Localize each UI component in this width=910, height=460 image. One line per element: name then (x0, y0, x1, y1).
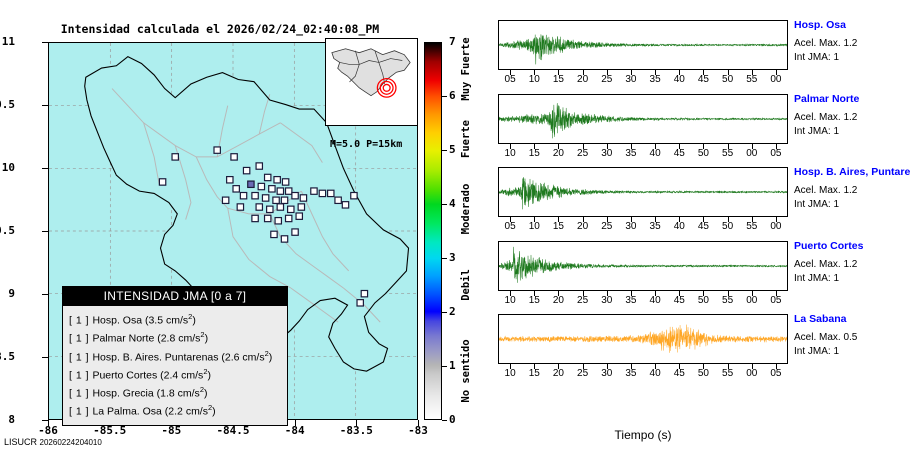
waveform-x-tick-label: 05 (763, 295, 789, 306)
waveform-row: 051015202530354045505500Hosp. B. Aires, … (470, 167, 910, 239)
waveform-x-tick-label: 00 (739, 368, 765, 379)
waveform-trace (499, 315, 787, 363)
waveform-x-tick-label: 10 (497, 148, 523, 159)
waveform-x-tick-label: 00 (763, 221, 789, 232)
waveform-x-tick-label: 25 (570, 148, 596, 159)
legend-row-close: ) (204, 388, 208, 400)
waveform-x-tick-label: 15 (521, 368, 547, 379)
epicenter-icon (377, 79, 396, 98)
map-y-tick-label: 8 (0, 413, 15, 426)
waveform-x-tick-label: 15 (545, 221, 571, 232)
waveform-x-tick-label: 35 (618, 295, 644, 306)
colorbar-tick (442, 204, 447, 205)
waveform-meta: La SabanaAcel. Max. 0.5Int JMA: 1 (794, 313, 910, 359)
map-y-tick (42, 294, 48, 295)
map-y-tick-label: 10.5 (0, 98, 15, 111)
colorbar-tick (442, 366, 447, 367)
legend-row-close: ) (205, 333, 209, 345)
map-x-tick (295, 420, 296, 426)
waveform-x-tick-label: 50 (690, 368, 716, 379)
map-y-tick-label: 10 (0, 161, 15, 174)
legend-row-count: [ 1 ] (69, 369, 92, 381)
waveform-x-tick-label: 45 (690, 221, 716, 232)
waveform-trace (499, 168, 787, 216)
colorbar-tick-label: 4 (449, 197, 456, 210)
legend-row-station: Puerto Cortes (2.4 cm/s (92, 369, 203, 381)
legend-row-count: [ 1 ] (69, 406, 92, 418)
legend-row-station: La Palma. Osa (2.2 cm/s (92, 406, 208, 418)
colorbar-tick-label: 1 (449, 359, 456, 372)
legend-row-close: ) (212, 406, 216, 418)
legend-row-station: Hosp. Osa (3.5 cm/s (92, 315, 188, 327)
waveform-x-tick-label: 35 (618, 368, 644, 379)
map-y-tick (42, 168, 48, 169)
waveform-x-tick-label: 25 (594, 74, 620, 85)
waveform-trace (499, 21, 787, 69)
legend-row: [ 1 ] Puerto Cortes (2.4 cm/s2) (69, 365, 287, 383)
waveform-x-tick-label: 20 (570, 221, 596, 232)
waveform-x-tick-labels: 101520253035404550550005 (498, 295, 788, 309)
waveform-row: 101520253035404550550005Puerto CortesAce… (470, 241, 910, 313)
footer: LISUCR 20260224204010 (4, 437, 102, 447)
waveform-meta: Hosp. B. Aires, PuntareAcel. Max. 1.2Int… (794, 166, 910, 212)
waveform-x-tick-label: 20 (545, 295, 571, 306)
inset-landmass (332, 49, 410, 96)
colorbar-gradient (424, 42, 442, 420)
waveform-x-tick-label: 00 (739, 148, 765, 159)
waveform-x-axis-title: Tiempo (s) (498, 428, 788, 442)
waveform-x-tick-label: 40 (666, 221, 692, 232)
waveform-x-tick-label: 15 (545, 74, 571, 85)
waveform-accel-max: Acel. Max. 1.2 (794, 37, 910, 51)
waveform-x-tick-label: 50 (715, 221, 741, 232)
waveform-x-tick-label: 55 (715, 368, 741, 379)
waveform-x-tick-labels: 051015202530354045505500 (498, 221, 788, 235)
waveform-trace (499, 242, 787, 290)
waveform-x-tick-label: 15 (521, 295, 547, 306)
legend-row-count: [ 1 ] (69, 315, 92, 327)
legend-row-close: ) (192, 315, 196, 327)
waveform-x-tick-label: 35 (642, 221, 668, 232)
waveform-plot[interactable] (498, 314, 788, 364)
legend-row: [ 1 ] La Palma. Osa (2.2 cm/s2) (69, 401, 287, 419)
waveform-x-tick-label: 15 (521, 148, 547, 159)
waveform-x-tick-label: 30 (618, 221, 644, 232)
waveform-x-tick-label: 30 (594, 148, 620, 159)
footer-agency: LISUCR (4, 437, 37, 447)
waveform-row: 051015202530354045505500Hosp. OsaAcel. M… (470, 20, 910, 92)
waveform-x-tick-label: 25 (570, 368, 596, 379)
map-y-tick (42, 357, 48, 358)
colorbar-tick-label: 7 (449, 35, 456, 48)
colorbar-tick (442, 420, 447, 421)
waveform-meta: Puerto CortesAcel. Max. 1.2Int JMA: 1 (794, 240, 910, 286)
waveform-x-tick-label: 45 (666, 148, 692, 159)
waveform-x-tick-label: 50 (690, 148, 716, 159)
waveform-station-name[interactable]: Palmar Norte (794, 93, 910, 106)
waveform-jma-intensity: Int JMA: 1 (794, 345, 910, 359)
colorbar-tick-label: 6 (449, 89, 456, 102)
waveform-x-tick-label: 35 (618, 148, 644, 159)
intensity-colorbar: 76543210Muy FuerteFuerteModeradoDebilNo … (424, 42, 470, 420)
waveform-x-tick-label: 25 (570, 295, 596, 306)
map-y-tick-label: 9.5 (0, 224, 15, 237)
map-y-tick (42, 105, 48, 106)
waveform-x-tick-label: 00 (763, 74, 789, 85)
waveform-jma-intensity: Int JMA: 1 (794, 51, 910, 65)
waveform-x-tick-label: 55 (739, 74, 765, 85)
map-x-tick (418, 420, 419, 426)
waveform-x-tick-label: 05 (497, 74, 523, 85)
footer-id: 20260224204010 (40, 438, 102, 447)
waveform-x-tick-label: 30 (594, 295, 620, 306)
waveform-x-tick-label: 55 (715, 295, 741, 306)
waveform-x-tick-label: 40 (642, 148, 668, 159)
waveform-x-tick-labels: 101520253035404550550005 (498, 148, 788, 162)
waveform-plot[interactable] (498, 20, 788, 70)
waveform-trace (499, 95, 787, 143)
map-y-tick-label: 8.5 (0, 350, 15, 363)
waveform-x-tick-label: 50 (690, 295, 716, 306)
waveform-x-tick-label: 30 (594, 368, 620, 379)
waveform-plot[interactable] (498, 167, 788, 217)
waveform-x-tick-label: 20 (545, 148, 571, 159)
page-title: Intensidad calculada el 2026/02/24_02:40… (0, 22, 440, 36)
legend-row: [ 1 ] Hosp. Grecia (1.8 cm/s2) (69, 383, 287, 401)
legend-row-count: [ 1 ] (69, 333, 92, 345)
waveform-x-tick-label: 10 (497, 368, 523, 379)
map-inset[interactable] (325, 38, 418, 126)
waveform-x-tick-label: 40 (642, 295, 668, 306)
waveform-x-tick-label: 40 (642, 368, 668, 379)
colorbar-tick-label: 3 (449, 251, 456, 264)
legend-row-close: ) (207, 369, 211, 381)
colorbar-tick (442, 312, 447, 313)
waveform-x-tick-labels: 101520253035404550550005 (498, 368, 788, 382)
inset-graphics (326, 39, 417, 125)
legend-row-station: Hosp. Grecia (1.8 cm/s (92, 388, 199, 400)
seismic-intensity-report: Intensidad calculada el 2026/02/24_02:40… (0, 0, 910, 460)
waveform-x-tick-label: 45 (690, 74, 716, 85)
waveform-x-tick-label: 10 (521, 221, 547, 232)
waveform-x-tick-label: 20 (570, 74, 596, 85)
waveform-row: 101520253035404550550005Palmar NorteAcel… (470, 94, 910, 166)
waveform-jma-intensity: Int JMA: 1 (794, 125, 910, 139)
waveform-x-tick-label: 20 (545, 368, 571, 379)
colorbar-tick-label: 5 (449, 143, 456, 156)
waveform-x-tick-label: 05 (497, 221, 523, 232)
waveform-x-tick-label: 55 (739, 221, 765, 232)
colorbar-tick (442, 258, 447, 259)
colorbar-tick (442, 150, 447, 151)
waveform-x-tick-label: 10 (497, 295, 523, 306)
waveform-plot[interactable] (498, 94, 788, 144)
colorbar-tick-label: 0 (449, 413, 456, 426)
waveform-station-name[interactable]: Puerto Cortes (794, 240, 910, 253)
waveform-x-tick-label: 35 (642, 74, 668, 85)
waveform-x-tick-label: 45 (666, 295, 692, 306)
waveform-x-tick-label: 05 (763, 368, 789, 379)
waveform-accel-max: Acel. Max. 1.2 (794, 111, 910, 125)
map-y-tick-label: 11 (0, 35, 15, 48)
waveform-row: 101520253035404550550005La SabanaAcel. M… (470, 314, 910, 386)
waveform-station-name[interactable]: Hosp. B. Aires, Puntare (794, 166, 910, 179)
map-y-tick (42, 42, 48, 43)
waveform-x-tick-label: 55 (715, 148, 741, 159)
legend-title: INTENSIDAD JMA [0 a 7] (63, 287, 287, 306)
waveform-x-tick-labels: 051015202530354045505500 (498, 74, 788, 88)
waveform-accel-max: Acel. Max. 1.2 (794, 258, 910, 272)
intensity-legend: INTENSIDAD JMA [0 a 7] [ 1 ] Hosp. Osa (… (62, 286, 288, 426)
waveform-x-tick-label: 25 (594, 221, 620, 232)
legend-row-count: [ 1 ] (69, 388, 92, 400)
legend-row: [ 1 ] Hosp. B. Aires. Puntarenas (2.6 cm… (69, 347, 287, 365)
waveform-x-tick-label: 05 (763, 148, 789, 159)
waveform-meta: Hosp. OsaAcel. Max. 1.2Int JMA: 1 (794, 19, 910, 65)
waveform-panel: 051015202530354045505500Hosp. OsaAcel. M… (470, 0, 910, 460)
map-x-tick (356, 420, 357, 426)
waveform-x-tick-label: 30 (618, 74, 644, 85)
waveform-x-tick-label: 00 (739, 295, 765, 306)
waveform-jma-intensity: Int JMA: 1 (794, 272, 910, 286)
colorbar-tick-label: 2 (449, 305, 456, 318)
waveform-station-name[interactable]: Hosp. Osa (794, 19, 910, 32)
map-x-tick (48, 420, 49, 426)
map-y-tick (42, 231, 48, 232)
waveform-x-tick-label: 50 (715, 74, 741, 85)
waveform-accel-max: Acel. Max. 0.5 (794, 331, 910, 345)
colorbar-tick (442, 96, 447, 97)
legend-row-station: Hosp. B. Aires. Puntarenas (2.6 cm/s (92, 351, 264, 363)
waveform-accel-max: Acel. Max. 1.2 (794, 184, 910, 198)
waveform-plot[interactable] (498, 241, 788, 291)
waveform-station-name[interactable]: La Sabana (794, 313, 910, 326)
waveform-x-tick-label: 45 (666, 368, 692, 379)
map-panel: Intensidad calculada el 2026/02/24_02:40… (0, 0, 470, 460)
waveform-jma-intensity: Int JMA: 1 (794, 198, 910, 212)
legend-station-list: [ 1 ] Hosp. Osa (3.5 cm/s2)[ 1 ] Palmar … (63, 306, 287, 425)
legend-row: [ 1 ] Palmar Norte (2.8 cm/s2) (69, 328, 287, 346)
legend-row-station: Palmar Norte (2.8 cm/s (92, 333, 200, 345)
legend-row-count: [ 1 ] (69, 351, 92, 363)
waveform-meta: Palmar NorteAcel. Max. 1.2Int JMA: 1 (794, 93, 910, 139)
waveform-x-tick-label: 10 (521, 74, 547, 85)
legend-row: [ 1 ] Hosp. Osa (3.5 cm/s2) (69, 310, 287, 328)
map-y-tick-label: 9 (0, 287, 15, 300)
legend-row-close: ) (269, 351, 273, 363)
waveform-x-tick-label: 40 (666, 74, 692, 85)
magnitude-depth-label: M=5.0 P=15km (330, 139, 402, 150)
